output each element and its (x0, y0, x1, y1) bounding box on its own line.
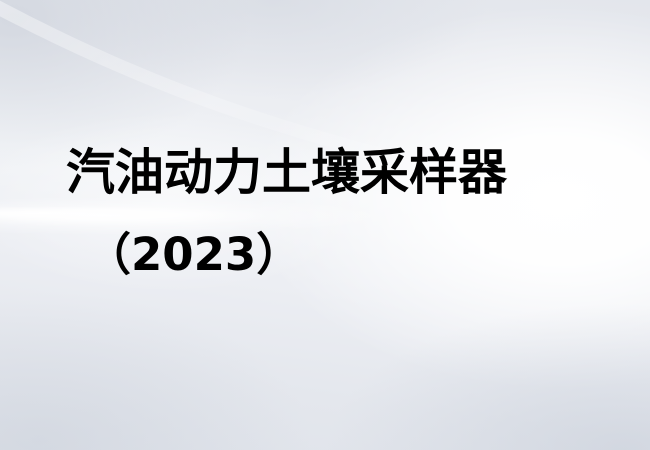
title-slide: 汽油动力土壤采样器 （2023） (0, 0, 650, 450)
page-title: 汽油动力土壤采样器 (66, 148, 507, 197)
slide-title-block: 汽油动力土壤采样器 （2023） (0, 0, 650, 450)
page-subtitle-year: （2023） (86, 232, 301, 277)
